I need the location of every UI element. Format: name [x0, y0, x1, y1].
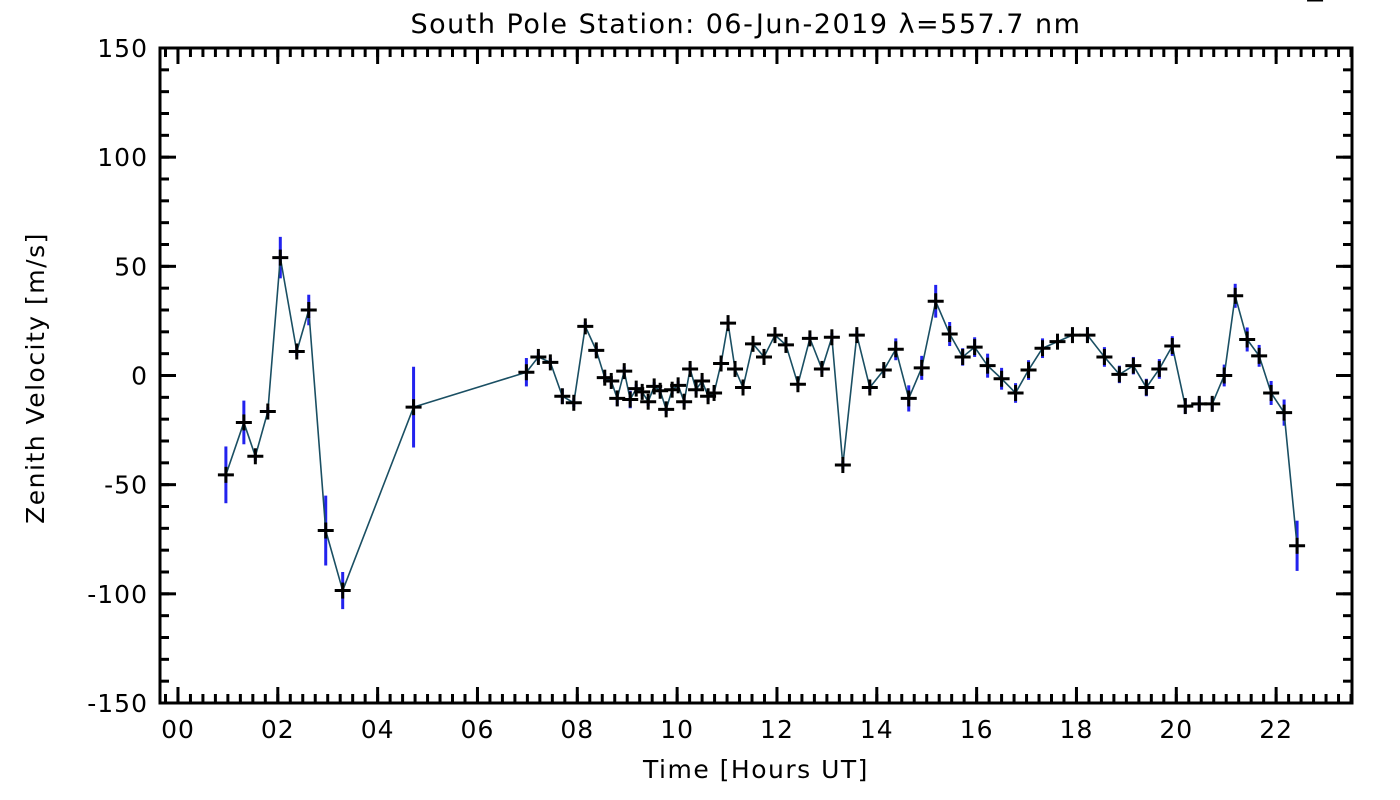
x-tick-label: 12 — [760, 715, 794, 744]
y-tick-label: 0 — [131, 362, 148, 391]
y-tick-label: -50 — [104, 471, 148, 500]
x-axis-label: Time [Hours UT] — [642, 755, 869, 784]
y-axis-label: Zenith Velocity [m/s] — [21, 232, 50, 524]
x-tick-label: 18 — [1060, 715, 1094, 744]
figure-container: South Pole Station: 06-Jun-2019 λ=557.7 … — [0, 0, 1400, 800]
y-tick-label: 150 — [97, 34, 148, 63]
figure-background — [0, 0, 1400, 800]
x-tick-label: 00 — [161, 715, 195, 744]
plot-figure: South Pole Station: 06-Jun-2019 λ=557.7 … — [0, 0, 1400, 800]
x-tick-label: 16 — [960, 715, 994, 744]
x-tick-label: 04 — [361, 715, 395, 744]
y-tick-label: 100 — [97, 143, 148, 172]
y-tick-label: -100 — [87, 580, 148, 609]
x-tick-label: 06 — [461, 715, 495, 744]
y-tick-label: 50 — [114, 252, 148, 281]
x-tick-label: 08 — [560, 715, 594, 744]
x-tick-label: 10 — [660, 715, 694, 744]
page-title: South Pole Station: 06-Jun-2019 λ=557.7 … — [411, 9, 1082, 40]
y-tick-label: -150 — [87, 689, 148, 718]
x-tick-label: 22 — [1259, 715, 1293, 744]
x-tick-label: 20 — [1159, 715, 1193, 744]
x-tick-label: 14 — [860, 715, 894, 744]
x-tick-label: 02 — [261, 715, 295, 744]
